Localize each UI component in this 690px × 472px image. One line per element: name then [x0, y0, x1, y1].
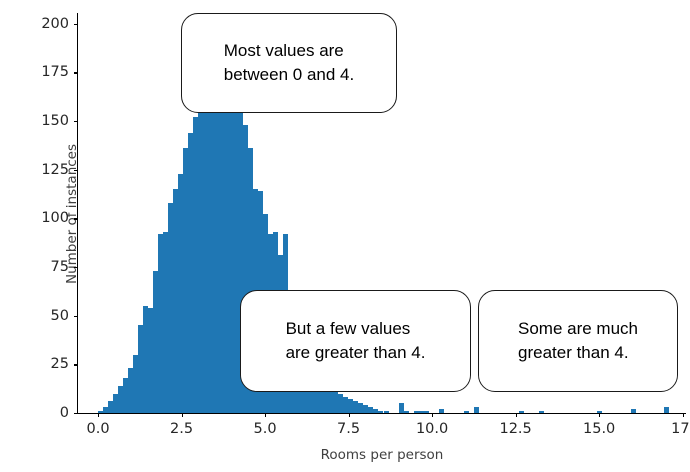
y-tick-label: 25: [51, 356, 69, 372]
y-tick-mark: [74, 218, 78, 219]
x-tick-label: 15.0: [583, 421, 615, 437]
y-tick-label: 100: [41, 210, 69, 226]
histogram-bar: [539, 411, 544, 413]
x-tick-mark: [349, 413, 350, 417]
callout-some-much-greater-line2: greater than 4.: [518, 341, 638, 365]
x-tick-mark: [683, 413, 684, 417]
y-tick-label: 125: [41, 162, 69, 178]
x-tick-mark: [98, 413, 99, 417]
x-tick-mark: [432, 413, 433, 417]
x-tick-label: 5.0: [254, 421, 277, 437]
histogram-bar: [404, 411, 409, 413]
callout-some-much-greater: Some are much greater than 4.: [478, 290, 678, 392]
y-tick-mark: [74, 72, 78, 73]
x-tick-mark: [265, 413, 266, 417]
x-tick-label: 7.5: [337, 421, 360, 437]
histogram-bar: [664, 407, 669, 413]
x-tick-label: 2.5: [170, 421, 193, 437]
x-tick-label: 17.: [671, 421, 690, 437]
x-axis-label: Rooms per person: [78, 447, 686, 463]
y-tick-label: 150: [41, 113, 69, 129]
y-tick-label: 200: [41, 16, 69, 32]
callout-some-much-greater-line1: Some are much: [518, 317, 638, 341]
callout-most-values: Most values are between 0 and 4.: [181, 13, 397, 113]
callout-most-values-line1: Most values are: [224, 39, 354, 63]
x-tick-label: 0.0: [87, 421, 110, 437]
y-tick-mark: [74, 170, 78, 171]
histogram-bar: [631, 409, 636, 413]
histogram-bar: [439, 409, 444, 413]
callout-most-values-line2: between 0 and 4.: [224, 63, 354, 87]
y-tick-label: 75: [51, 259, 69, 275]
y-tick-mark: [74, 364, 78, 365]
y-tick-label: 175: [41, 64, 69, 80]
callout-few-values: But a few values are greater than 4.: [240, 290, 471, 392]
x-tick-mark: [599, 413, 600, 417]
histogram-bar: [384, 411, 389, 413]
histogram-bar: [464, 411, 469, 413]
y-axis-label-container: Number of instances: [0, 14, 20, 413]
histogram-bar: [519, 411, 524, 413]
histogram-figure: Number of instances Rooms per person 025…: [0, 0, 690, 472]
y-tick-mark: [74, 24, 78, 25]
histogram-bar: [424, 411, 429, 413]
x-tick-mark: [516, 413, 517, 417]
histogram-bar: [474, 407, 479, 413]
y-tick-mark: [74, 121, 78, 122]
y-tick-label: 0: [60, 405, 69, 421]
y-tick-mark: [74, 267, 78, 268]
y-tick-label: 50: [51, 308, 69, 324]
x-tick-label: 10.0: [416, 421, 448, 437]
y-tick-mark: [74, 316, 78, 317]
callout-few-values-line2: are greater than 4.: [286, 341, 426, 365]
y-tick-mark: [74, 413, 78, 414]
x-tick-mark: [182, 413, 183, 417]
x-tick-label: 12.5: [499, 421, 531, 437]
callout-few-values-line1: But a few values: [286, 317, 426, 341]
